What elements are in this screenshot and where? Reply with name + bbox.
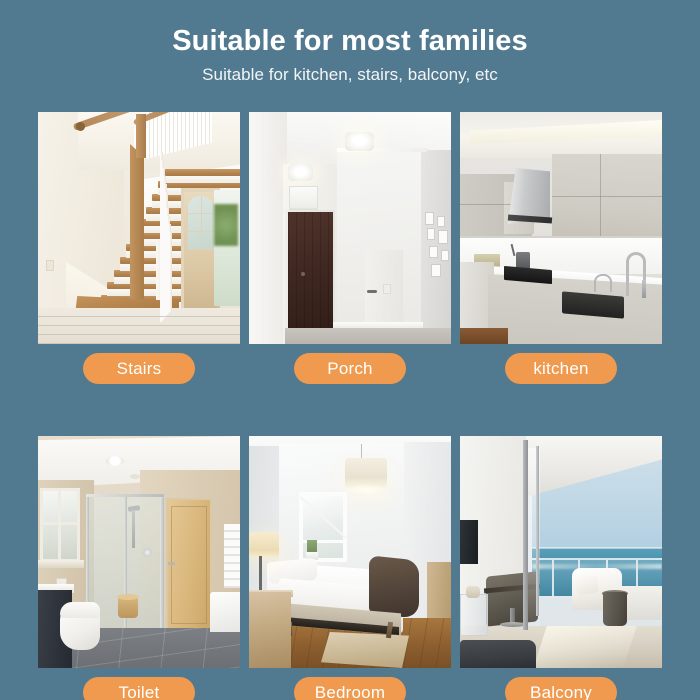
- decor-vase: [466, 586, 480, 598]
- photo-frame: [438, 230, 448, 244]
- storage-basket-rim: [117, 594, 139, 600]
- door-inset-panel: [171, 506, 207, 624]
- header: Suitable for most families Suitable for …: [0, 0, 700, 85]
- gallery-cell-toilet[interactable]: Toilet: [38, 436, 240, 700]
- sunlight-patch: [533, 626, 637, 668]
- floor-tile-seam: [38, 325, 240, 326]
- photo-frame-cluster: [425, 212, 451, 284]
- door-knob-icon: [301, 272, 305, 276]
- gallery-cell-stairs[interactable]: Stairs: [38, 112, 240, 384]
- page-title: Suitable for most families: [0, 24, 700, 58]
- light-switch-icon: [383, 284, 391, 294]
- scene-gallery-grid: Stairs: [38, 112, 662, 700]
- scene-label-toilet[interactable]: Toilet: [83, 677, 195, 700]
- light-switch-icon: [46, 260, 54, 271]
- photo-frame: [425, 212, 434, 225]
- gallery-cell-bedroom[interactable]: Bedroom: [249, 436, 451, 700]
- gallery-cell-balcony[interactable]: Balcony: [460, 436, 662, 700]
- badge-wrap-kitchen: kitchen: [460, 344, 662, 384]
- photo-frame: [441, 250, 449, 261]
- cabinet-seam: [600, 154, 601, 238]
- badge-wrap-toilet: Toilet: [38, 668, 240, 700]
- photo-bedroom: [249, 436, 451, 668]
- nightstand: [249, 592, 291, 668]
- floor-tile-seam: [38, 343, 240, 344]
- bathtub: [210, 592, 240, 632]
- door-handle-icon: [168, 562, 175, 565]
- stair-tread: [165, 169, 240, 176]
- acrylic-side-table: [460, 594, 488, 636]
- photo-kitchen: [460, 112, 662, 344]
- garden-foliage: [214, 204, 238, 246]
- door-glass-panes: [187, 196, 214, 250]
- foreground-sofa: [460, 640, 536, 668]
- scene-label-kitchen[interactable]: kitchen: [505, 353, 617, 384]
- door-handle-icon: [367, 290, 377, 293]
- badge-wrap-bedroom: Bedroom: [249, 668, 451, 700]
- secondary-tap: [594, 274, 612, 292]
- wood-floor: [460, 328, 508, 344]
- extractor-vent-icon: [106, 456, 124, 466]
- scene-label-stairs[interactable]: Stairs: [83, 353, 195, 384]
- faucet-spray-head: [642, 280, 646, 298]
- photo-frame: [431, 264, 441, 277]
- photo-frame: [429, 246, 438, 258]
- backsplash-edge: [460, 236, 662, 238]
- cabinet-seam: [552, 196, 662, 197]
- newel-post-upper: [136, 114, 146, 158]
- table-lamp-stem: [259, 556, 262, 592]
- shower-valve-icon: [143, 548, 152, 557]
- floor-tile-seam: [38, 316, 240, 317]
- window-sill: [38, 560, 84, 568]
- tiled-floor: [38, 308, 240, 344]
- shower-frame: [160, 498, 164, 640]
- badge-wrap-balcony: Balcony: [460, 668, 662, 700]
- ceiling-spotlight: [130, 474, 140, 479]
- ceiling-light-secondary: [288, 164, 313, 181]
- scene-label-bedroom[interactable]: Bedroom: [294, 677, 406, 700]
- ceiling-light-primary: [345, 132, 374, 151]
- photo-frame: [437, 216, 445, 227]
- side-stool: [603, 592, 627, 626]
- product-feature-banner: Suitable for most families Suitable for …: [0, 0, 700, 700]
- scene-label-porch[interactable]: Porch: [294, 353, 406, 384]
- daybed-cushion: [575, 575, 599, 596]
- badge-wrap-porch: Porch: [249, 344, 451, 384]
- entry-floor: [285, 328, 451, 344]
- window-mullion: [58, 488, 61, 562]
- balustrade-post: [552, 560, 554, 598]
- handrail-bracket-icon: [76, 122, 85, 131]
- shower-frame: [124, 494, 127, 640]
- badge-wrap-stairs: Stairs: [38, 344, 240, 384]
- glass-door-mullion-inner: [536, 446, 539, 616]
- towel-radiator: [224, 524, 240, 588]
- photo-toilet: [38, 436, 240, 668]
- area-rug: [321, 632, 409, 668]
- gallery-cell-porch[interactable]: Porch: [249, 112, 451, 384]
- wall-mounted-tv: [460, 520, 478, 564]
- page-subtitle: Suitable for kitchen, stairs, balcony, e…: [0, 65, 700, 85]
- floor-tile-seam: [38, 334, 240, 335]
- horizon-line: [532, 547, 662, 549]
- shower-hose: [132, 510, 135, 548]
- baluster: [169, 232, 172, 312]
- photo-balcony: [460, 436, 662, 668]
- pendant-light-glow: [347, 484, 385, 496]
- photo-stairs: [38, 112, 240, 344]
- bed-throw-blanket: [369, 555, 419, 618]
- scene-label-balcony[interactable]: Balcony: [505, 677, 617, 700]
- gallery-cell-kitchen[interactable]: kitchen: [460, 112, 662, 384]
- entry-door: [288, 212, 333, 344]
- shower-frame: [86, 494, 164, 497]
- glass-door-mullion-main: [523, 440, 528, 630]
- photo-porch: [249, 112, 451, 344]
- toilet-seat: [60, 602, 100, 618]
- photo-frame: [427, 228, 435, 240]
- table-lamp-shade: [249, 532, 279, 558]
